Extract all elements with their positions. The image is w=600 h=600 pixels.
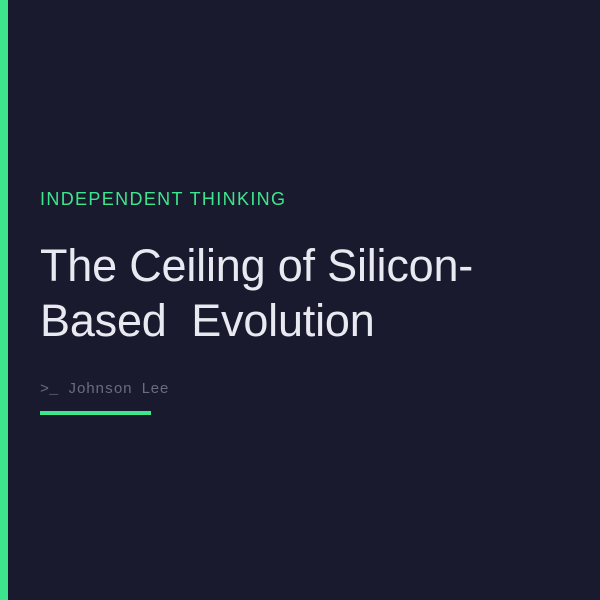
byline-author: >_ Johnson Lee — [40, 382, 580, 397]
eyebrow-label: INDEPENDENT THINKING — [40, 190, 580, 208]
quote-card: INDEPENDENT THINKING The Ceiling of Sili… — [0, 0, 600, 600]
page-title: The Ceiling of Silicon-Based Evolution — [40, 238, 585, 348]
card-content: INDEPENDENT THINKING The Ceiling of Sili… — [40, 190, 580, 415]
accent-underline-bar — [40, 411, 151, 415]
left-accent-stripe — [0, 0, 8, 600]
